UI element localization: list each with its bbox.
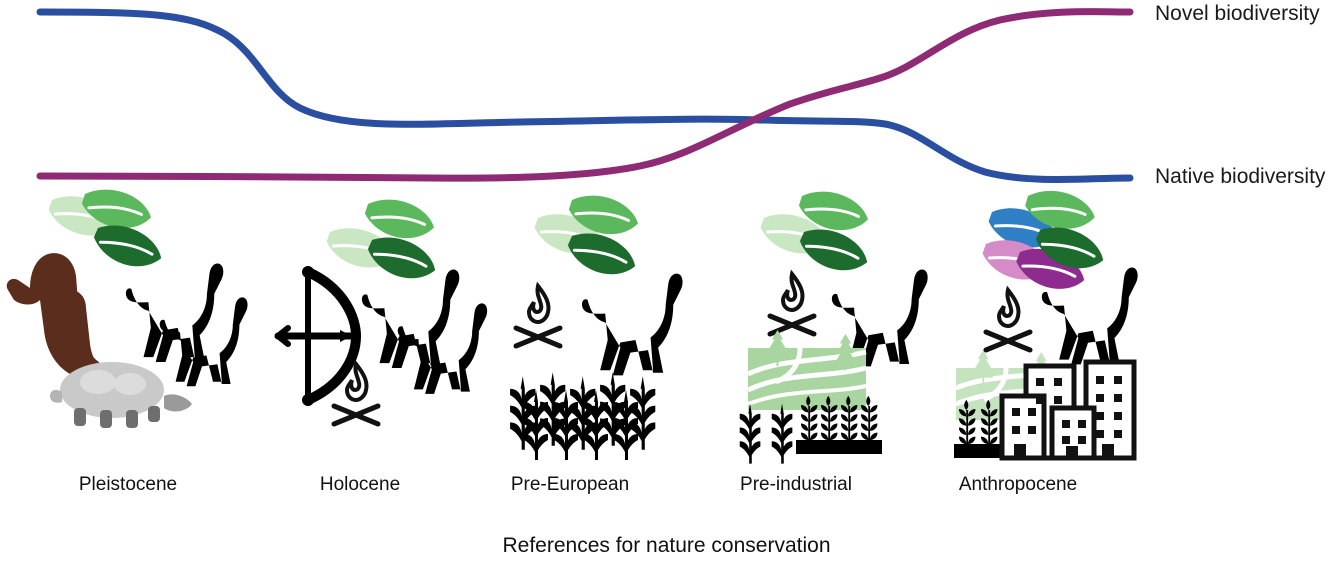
era-label-holocene: Holocene bbox=[250, 474, 470, 496]
novel-biodiversity-label: Novel biodiversity bbox=[1155, 2, 1320, 26]
campfire-icon bbox=[516, 286, 560, 346]
era-panel-holocene bbox=[278, 191, 487, 424]
era-label-pre-european: Pre-European bbox=[460, 474, 680, 496]
bow-and-arrow-icon bbox=[278, 266, 356, 406]
llama-icon bbox=[126, 264, 223, 362]
era-panel-pleistocene bbox=[7, 181, 248, 428]
era-label-anthropocene: Anthropocene bbox=[908, 474, 1128, 496]
campfire-icon bbox=[770, 274, 814, 334]
native-biodiversity-label: Native biodiversity bbox=[1155, 165, 1325, 189]
novel-biodiversity-curve bbox=[40, 12, 1130, 179]
era-panel-pre-industrial bbox=[740, 183, 928, 463]
campfire-icon bbox=[986, 290, 1030, 350]
native-biodiversity-curve bbox=[40, 12, 1130, 180]
maize-icon bbox=[740, 403, 793, 463]
era-label-pleistocene: Pleistocene bbox=[18, 474, 238, 496]
figure-caption: References for nature conservation bbox=[0, 534, 1333, 558]
ground-sloth-icon bbox=[7, 253, 112, 380]
era-panel-anthropocene bbox=[954, 183, 1138, 458]
era-label-pre-industrial: Pre-industrial bbox=[686, 474, 906, 496]
llama-icon bbox=[362, 270, 459, 368]
era-panel-pre-european bbox=[510, 187, 682, 460]
llama-icon bbox=[582, 274, 683, 376]
maize-field-icon bbox=[510, 372, 655, 460]
